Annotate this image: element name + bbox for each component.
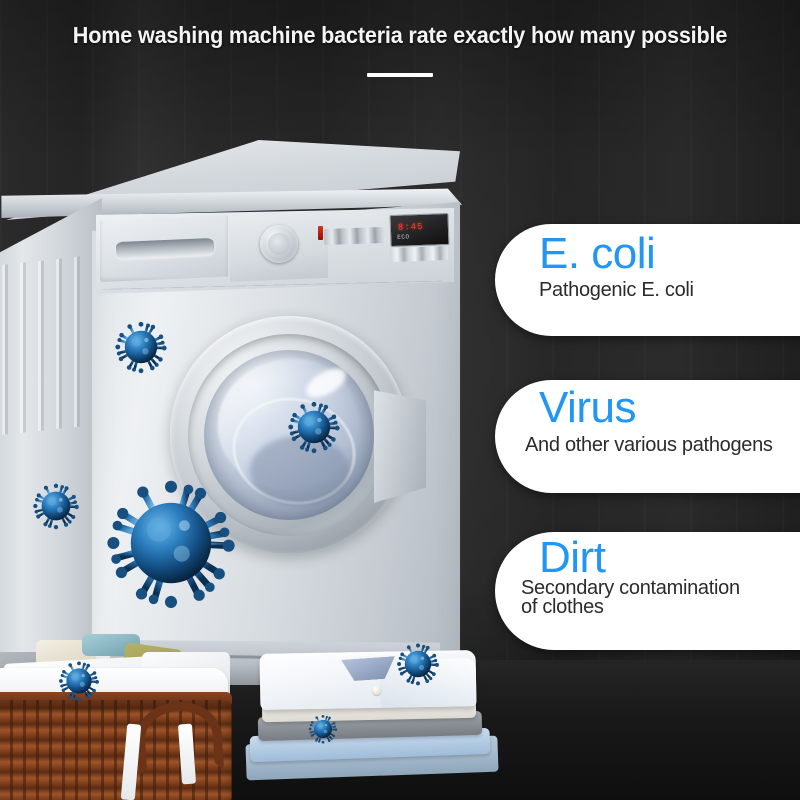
machine-side-ribs xyxy=(2,255,94,435)
led-display-time: 8:45 xyxy=(398,222,424,233)
germ-icon-side-panel xyxy=(32,482,80,530)
callout-title-virus: Virus xyxy=(539,386,800,431)
germ-icon-shirt-collar xyxy=(396,642,440,686)
led-display-mode: ECO xyxy=(397,233,410,240)
callout-card-virus-inner: Virus And other various pathogens xyxy=(495,380,800,457)
callout-card-ecoli[interactable]: E. coli Pathogenic E. coli xyxy=(495,224,800,336)
germ-icon-large-front xyxy=(104,476,238,610)
title-divider xyxy=(367,73,433,77)
option-buttons-row[interactable] xyxy=(390,246,448,262)
infographic-poster: Home washing machine bacteria rate exact… xyxy=(0,0,800,800)
callout-subtitle-virus: And other various pathogens xyxy=(525,434,800,458)
callout-card-virus[interactable]: Virus And other various pathogens xyxy=(495,380,800,493)
page-title: Home washing machine bacteria rate exact… xyxy=(24,22,776,49)
callout-title-dirt: Dirt xyxy=(539,536,800,581)
callout-card-dirt[interactable]: Dirt Secondary contamination of clothes xyxy=(495,532,800,650)
callout-subtitle-ecoli: Pathogenic E. coli xyxy=(539,279,800,303)
germ-icon-shirt-front xyxy=(308,714,338,744)
program-dial[interactable] xyxy=(260,225,298,263)
callout-card-ecoli-inner: E. coli Pathogenic E. coli xyxy=(495,224,800,302)
control-slider-buttons[interactable] xyxy=(324,227,385,245)
door-handle[interactable] xyxy=(374,380,426,508)
control-panel-seam xyxy=(102,264,443,312)
folded-white-shirt xyxy=(260,650,477,710)
power-indicator-light xyxy=(318,226,323,240)
germ-icon-basket-towel xyxy=(58,660,100,702)
header: Home washing machine bacteria rate exact… xyxy=(0,22,800,77)
callout-card-dirt-inner: Dirt Secondary contamination of clothes xyxy=(495,532,800,620)
shirt-button xyxy=(372,686,381,695)
folded-clothes-stack xyxy=(256,648,492,776)
germ-icon-door-left xyxy=(114,320,168,374)
germ-icon-drum xyxy=(287,400,341,454)
callout-title-ecoli: E. coli xyxy=(539,232,800,277)
led-display: 8:45 ECO xyxy=(389,213,449,247)
laundry-basket xyxy=(0,628,236,800)
